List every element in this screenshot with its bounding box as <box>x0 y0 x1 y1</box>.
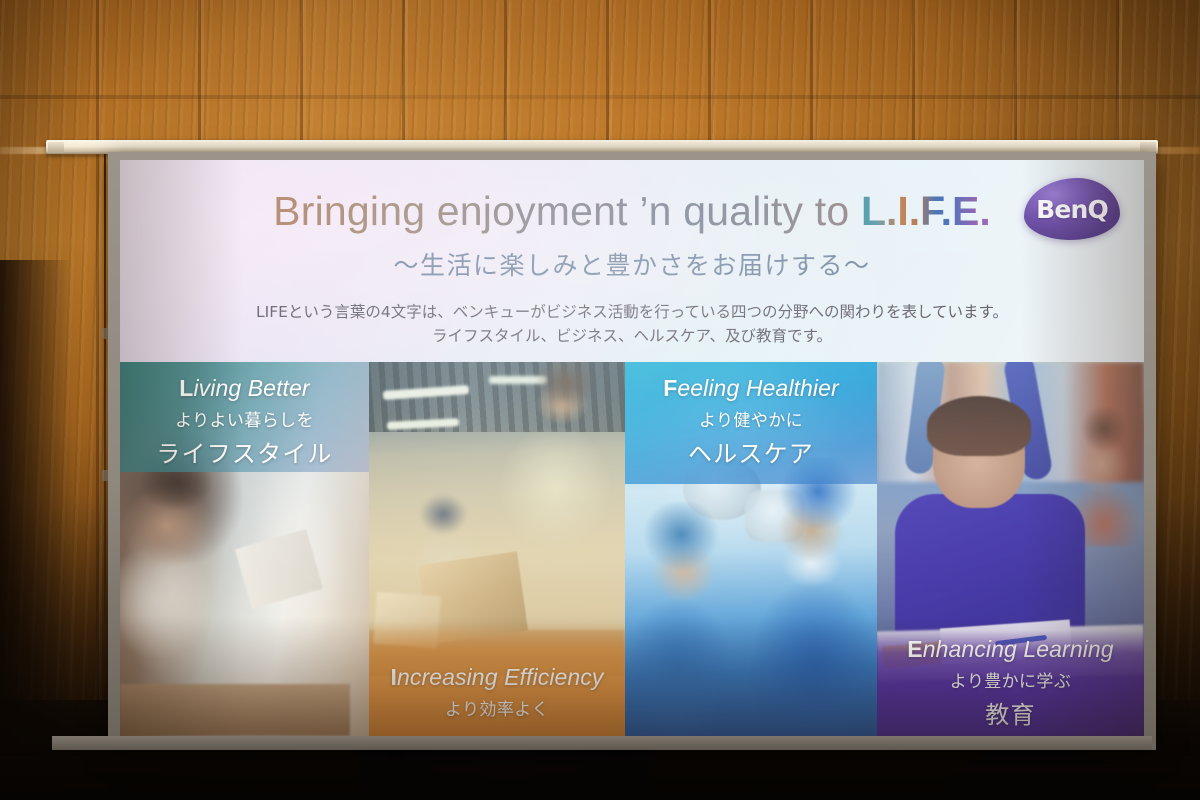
caption-rest-I: ncreasing Efficiency <box>397 664 604 690</box>
title-acronym: L.I.F.E. <box>861 188 991 234</box>
caption-rest-F: eeling Healthier <box>677 375 838 401</box>
body-line-2: ライフスタイル、ビジネス、ヘルスケア、及び教育です。 <box>120 324 1144 348</box>
caption-jp1-living-better: よりよい暮らしを <box>120 406 369 431</box>
quadrant-increasing-efficiency: Increasing Efficiency より効率よく <box>369 362 625 736</box>
slide-header: Bringing enjoyment ’n quality to L.I.F.E… <box>120 160 1144 362</box>
foreground-dark-band <box>0 756 1200 800</box>
conference-room-scene: Bringing enjoyment ’n quality to L.I.F.E… <box>0 0 1200 800</box>
projection-screen-assembly: Bringing enjoyment ’n quality to L.I.F.E… <box>46 140 1158 760</box>
slide-photo-grid: Living Better よりよい暮らしを ライフスタイル <box>120 362 1144 736</box>
slide-title: Bringing enjoyment ’n quality to L.I.F.E… <box>120 188 1144 235</box>
caption-jp2-living-better: ライフスタイル <box>120 434 369 469</box>
slide-subtitle: 〜生活に楽しみと豊かさをお届けする〜 <box>120 246 1144 282</box>
caption-initial-E: E <box>907 636 922 662</box>
caption-en-feeling-healthier: Feeling Healthier <box>625 376 877 402</box>
caption-increasing-efficiency: Increasing Efficiency より効率よく <box>369 665 625 720</box>
caption-en-living-better: Living Better <box>120 376 369 402</box>
screen-fabric-lower-edge <box>52 736 1152 750</box>
caption-jp1-enhancing-learning: より豊かに学ぶ <box>877 667 1144 692</box>
caption-jp1-feeling-healthier: より健やかに <box>625 406 877 431</box>
quadrant-enhancing-learning: Enhancing Learning より豊かに学ぶ 教育 <box>877 362 1144 736</box>
benq-logo: BenQ <box>1024 178 1120 240</box>
caption-jp1-increasing-efficiency: より効率よく <box>369 695 625 720</box>
caption-en-increasing-efficiency: Increasing Efficiency <box>369 665 625 691</box>
caption-enhancing-learning: Enhancing Learning より豊かに学ぶ 教育 <box>877 637 1144 730</box>
valance-end-left <box>48 142 64 153</box>
title-prefix: Bringing enjoyment ’n quality to <box>273 188 861 234</box>
quadrant-living-better: Living Better よりよい暮らしを ライフスタイル <box>120 362 369 736</box>
caption-jp2-feeling-healthier: ヘルスケア <box>625 434 877 469</box>
projected-slide: Bringing enjoyment ’n quality to L.I.F.E… <box>120 160 1144 736</box>
caption-rest-L: iving Better <box>193 375 309 401</box>
benq-wordmark: BenQ <box>1024 178 1120 240</box>
caption-en-enhancing-learning: Enhancing Learning <box>877 637 1144 663</box>
caption-rest-E: nhancing Learning <box>923 636 1114 662</box>
slide-body-text: LIFEという言葉の4文字は、ベンキューがビジネス活動を行っている四つの分野への… <box>120 300 1144 348</box>
body-line-1: LIFEという言葉の4文字は、ベンキューがビジネス活動を行っている四つの分野への… <box>120 300 1144 324</box>
screen-cable-left <box>104 154 106 624</box>
caption-feeling-healthier: Feeling Healthier より健やかに ヘルスケア <box>625 376 877 469</box>
caption-initial-L: L <box>179 375 193 401</box>
caption-living-better: Living Better よりよい暮らしを ライフスタイル <box>120 376 369 469</box>
caption-initial-F: F <box>663 375 677 401</box>
caption-jp2-enhancing-learning: 教育 <box>877 695 1144 730</box>
quadrant-feeling-healthier: Feeling Healthier より健やかに ヘルスケア <box>625 362 877 736</box>
